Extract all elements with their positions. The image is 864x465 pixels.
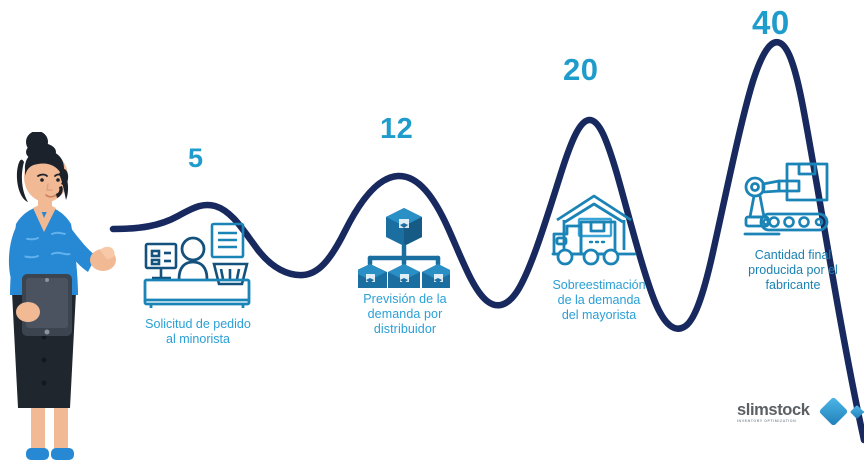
stage-caption-4: Cantidad final producida por el fabrican… — [730, 248, 856, 293]
stage-value-4: 40 — [752, 4, 790, 42]
presenter-shoes — [26, 448, 74, 460]
slimstock-logo: slimstock inventory optimization — [737, 398, 864, 428]
stage-value-1: 5 — [188, 143, 204, 174]
presenter-holding-hand — [16, 302, 40, 322]
parent-cube — [386, 208, 422, 246]
stage-caption-3: Sobreestimación de la demanda del mayori… — [525, 278, 673, 323]
logo-diamonds — [816, 398, 864, 428]
presenter-pointing-hand — [90, 247, 116, 271]
stage-caption-1: Solicitud de pedido al minorista — [118, 317, 278, 347]
stage-value-2: 12 — [380, 113, 413, 146]
logo-text: slimstock inventory optimization — [737, 402, 810, 424]
warehouse-truck-icon — [551, 192, 637, 273]
distribution-boxes-icon — [358, 206, 450, 293]
presenter-illustration — [0, 132, 130, 465]
child-cubes — [358, 264, 450, 288]
retail-checkout-icon — [143, 222, 251, 315]
robot-arm-conveyor-icon — [743, 162, 839, 247]
infographic-canvas: 5 12 20 40 — [0, 0, 864, 465]
stage-value-3: 20 — [563, 52, 598, 88]
logo-wordmark: slimstock — [737, 402, 810, 419]
stage-caption-2: Previsión de la demanda por distribuidor — [335, 292, 475, 337]
logo-tagline: inventory optimization — [737, 420, 796, 424]
